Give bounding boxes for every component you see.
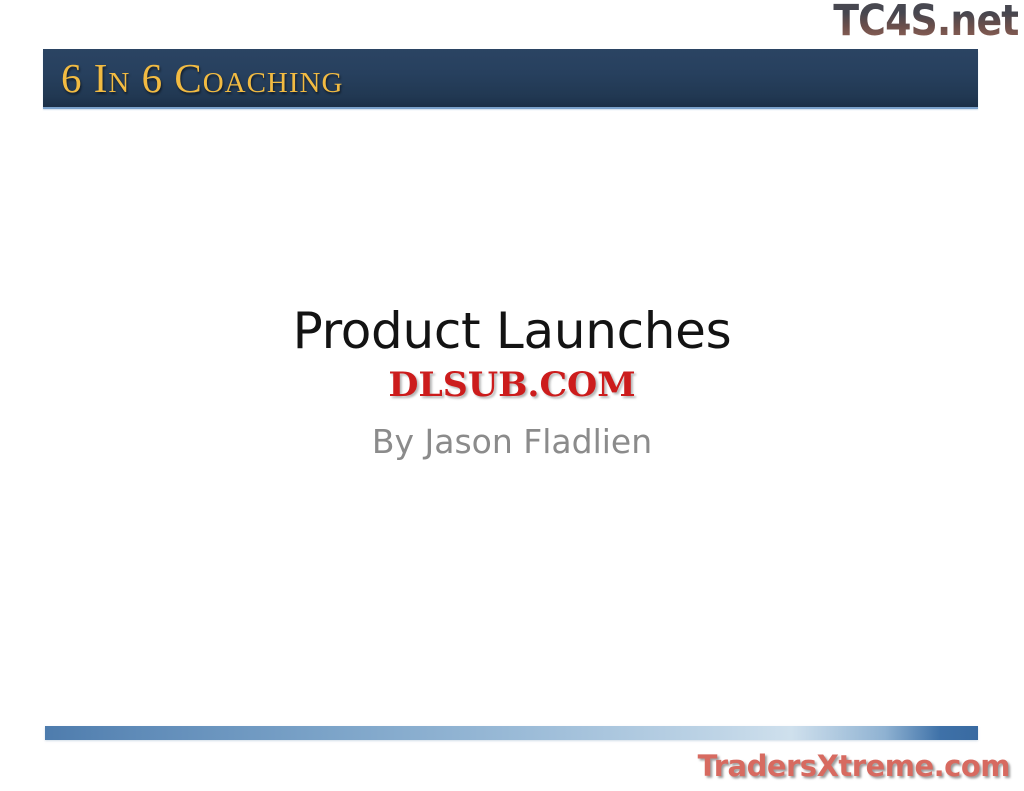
tradersxtreme-watermark: TradersXtreme.com — [698, 749, 1010, 783]
tc4s-watermark: TC4S.net — [833, 0, 1018, 44]
page-title: Product Launches — [0, 300, 1024, 362]
footer-gradient-bar — [45, 726, 978, 740]
header-banner: 6 In 6 Coaching — [43, 49, 978, 107]
dlsub-watermark: DLSUB.COM — [0, 367, 1024, 403]
slide-content: Product Launches DLSUB.COM By Jason Flad… — [0, 300, 1024, 462]
presentation-slide: TC4S.net 6 In 6 Coaching Product Launche… — [0, 0, 1024, 791]
slide-subtitle: By Jason Fladlien — [0, 422, 1024, 462]
header-banner-title: 6 In 6 Coaching — [61, 56, 343, 100]
